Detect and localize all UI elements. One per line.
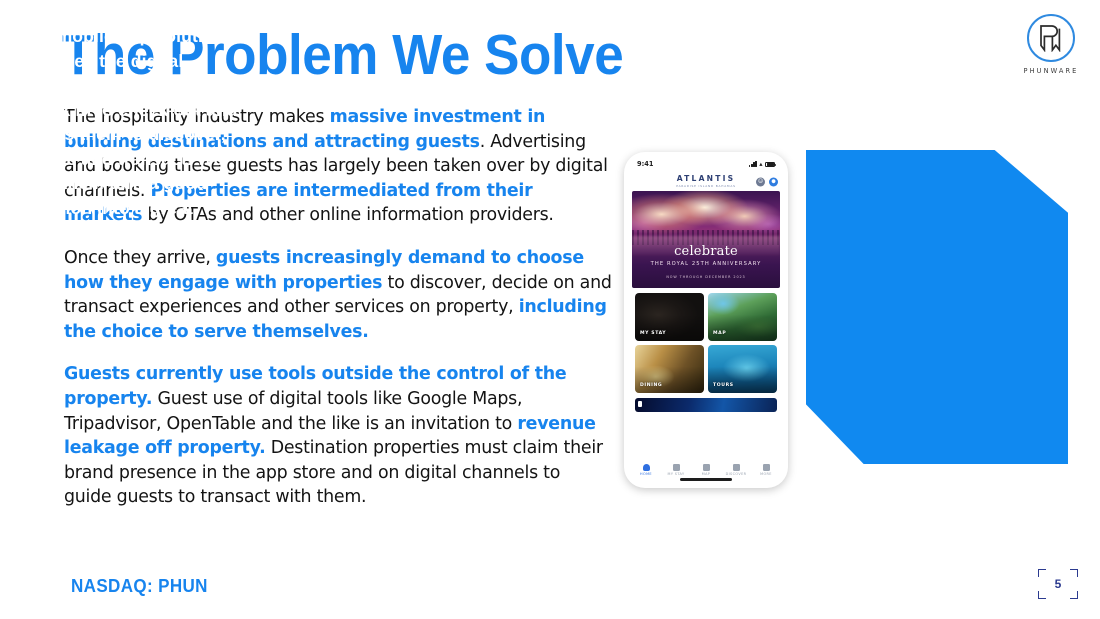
map-icon bbox=[703, 464, 710, 471]
phone-screen: 9:41 ▴ ATLANTIS PARADISE ISLAND BAHAMAS … bbox=[628, 156, 784, 484]
logo-wordmark: PHUNWARE bbox=[1018, 67, 1084, 75]
nav-item-map[interactable]: MAP bbox=[691, 464, 721, 476]
nav-label: DISCOVER bbox=[721, 473, 751, 476]
nav-label: HOME bbox=[631, 473, 661, 476]
text-run: Once they arrive, bbox=[64, 248, 216, 268]
nav-label: MORE bbox=[751, 473, 781, 476]
status-icons: ▴ bbox=[749, 161, 775, 168]
promo-strip[interactable] bbox=[635, 398, 777, 412]
phone-app-bar: ATLANTIS PARADISE ISLAND BAHAMAS ☺ ● bbox=[628, 172, 784, 191]
pw-monogram-icon bbox=[1038, 24, 1064, 52]
phone-status-bar: 9:41 ▴ bbox=[628, 156, 784, 172]
logo-ring bbox=[1027, 14, 1075, 62]
home-indicator bbox=[680, 478, 732, 481]
tile-grid: MY STAY MAP DINING TOURS bbox=[635, 293, 777, 393]
nav-label: MY STAY bbox=[661, 473, 691, 476]
app-bar-actions: ☺ ● bbox=[756, 177, 778, 186]
paragraph-2: Once they arrive, guests increasingly de… bbox=[64, 246, 612, 344]
wifi-icon: ▴ bbox=[759, 161, 762, 168]
tile-label: TOURS bbox=[713, 384, 734, 389]
promo-thumbnail bbox=[638, 401, 642, 407]
tile-label: DINING bbox=[640, 384, 662, 389]
hero-title: celebrate bbox=[632, 245, 780, 258]
tile-dining[interactable]: DINING bbox=[635, 345, 704, 393]
phunware-logo: PHUNWARE bbox=[1018, 14, 1084, 75]
app-brand-name: ATLANTIS bbox=[676, 175, 736, 183]
paragraph-3: Guests currently use tools outside the c… bbox=[64, 362, 612, 510]
home-icon bbox=[643, 464, 650, 471]
tile-label: MY STAY bbox=[640, 332, 666, 337]
callout-text: Our mobile app solution captures the dig… bbox=[20, 24, 248, 245]
nasdaq-ticker: NASDAQ: PHUN bbox=[71, 575, 208, 597]
app-brand-subtitle: PARADISE ISLAND BAHAMAS bbox=[676, 185, 736, 188]
nav-item-my-stay[interactable]: MY STAY bbox=[661, 464, 691, 476]
suitcase-icon bbox=[673, 464, 680, 471]
phone-mockup: 9:41 ▴ ATLANTIS PARADISE ISLAND BAHAMAS … bbox=[624, 152, 788, 488]
chat-icon[interactable]: ☺ bbox=[756, 177, 765, 186]
battery-icon bbox=[765, 162, 775, 167]
nav-label: MAP bbox=[691, 473, 721, 476]
nav-item-more[interactable]: MORE bbox=[751, 464, 781, 476]
cellular-signal-icon bbox=[749, 161, 757, 167]
hero-banner[interactable]: celebrate THE ROYAL 25TH ANNIVERSARY NOW… bbox=[632, 191, 780, 288]
status-time: 9:41 bbox=[637, 160, 653, 168]
tile-my-stay[interactable]: MY STAY bbox=[635, 293, 704, 341]
hero-subtitle: THE ROYAL 25TH ANNIVERSARY bbox=[632, 262, 780, 267]
tile-label: MAP bbox=[713, 332, 726, 337]
page-marker: 5 bbox=[1038, 569, 1078, 599]
tile-map[interactable]: MAP bbox=[708, 293, 777, 341]
app-brand: ATLANTIS PARADISE ISLAND BAHAMAS bbox=[676, 175, 736, 187]
compass-icon bbox=[733, 464, 740, 471]
nav-item-home[interactable]: HOME bbox=[631, 464, 661, 476]
ellipsis-icon bbox=[763, 464, 770, 471]
hero-dates: NOW THROUGH DECEMBER 2023 bbox=[632, 276, 780, 279]
tile-tours[interactable]: TOURS bbox=[708, 345, 777, 393]
hero-caption: celebrate THE ROYAL 25TH ANNIVERSARY NOW… bbox=[632, 245, 780, 279]
page-number: 5 bbox=[1038, 569, 1078, 599]
bell-icon[interactable]: ● bbox=[769, 177, 778, 186]
nav-item-discover[interactable]: DISCOVER bbox=[721, 464, 751, 476]
callout-box bbox=[806, 150, 1068, 464]
